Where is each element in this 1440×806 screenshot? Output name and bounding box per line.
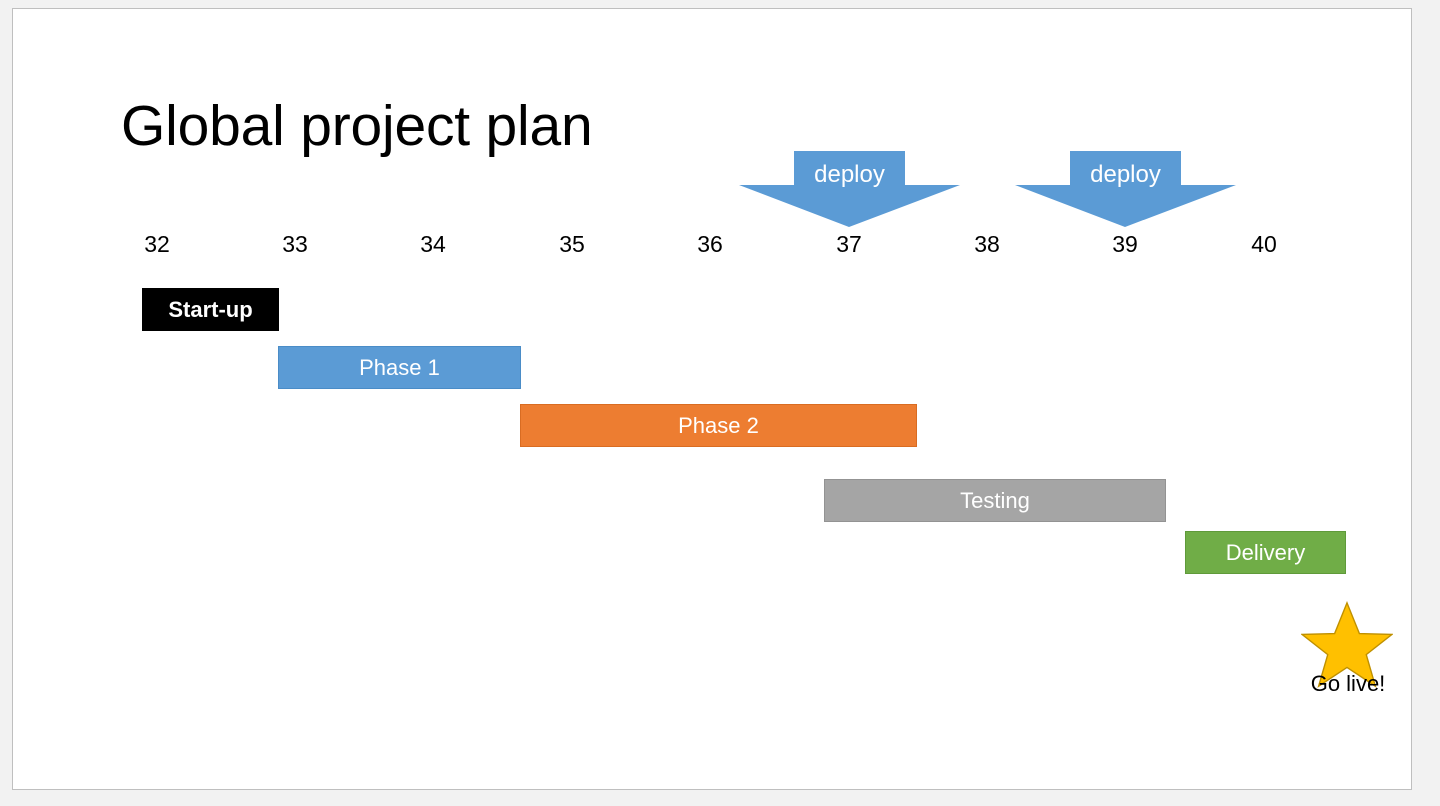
week-tick-40: 40 (1224, 227, 1304, 261)
gantt-bar-label: Delivery (1226, 540, 1305, 566)
gantt-bar-label: Testing (960, 488, 1030, 514)
page-title: Global project plan (121, 95, 593, 158)
gantt-bar-phase-2[interactable]: Phase 2 (520, 404, 917, 447)
gantt-bar-label: Phase 1 (359, 355, 440, 381)
deploy-marker-week-37[interactable]: deploy (739, 151, 960, 227)
week-tick-38: 38 (947, 227, 1027, 261)
milestone-label: Go live! (1266, 671, 1412, 697)
week-tick-33: 33 (255, 227, 335, 261)
down-arrow-icon (739, 151, 960, 227)
gantt-bar-label: Start-up (168, 297, 252, 323)
slide-canvas: Global project plan 32 33 34 35 36 37 38… (12, 8, 1412, 790)
week-tick-36: 36 (670, 227, 750, 261)
timeline-axis: 32 33 34 35 36 37 38 39 40 (13, 227, 1412, 261)
week-tick-34: 34 (393, 227, 473, 261)
gantt-bar-label: Phase 2 (678, 413, 759, 439)
week-tick-39: 39 (1085, 227, 1165, 261)
gantt-bar-delivery[interactable]: Delivery (1185, 531, 1346, 574)
gantt-bar-testing[interactable]: Testing (824, 479, 1166, 522)
down-arrow-icon (1015, 151, 1236, 227)
week-tick-37: 37 (809, 227, 889, 261)
gantt-bar-phase-1[interactable]: Phase 1 (278, 346, 521, 389)
gantt-bar-start-up[interactable]: Start-up (142, 288, 279, 331)
deploy-marker-week-39[interactable]: deploy (1015, 151, 1236, 227)
week-tick-32: 32 (117, 227, 197, 261)
week-tick-35: 35 (532, 227, 612, 261)
